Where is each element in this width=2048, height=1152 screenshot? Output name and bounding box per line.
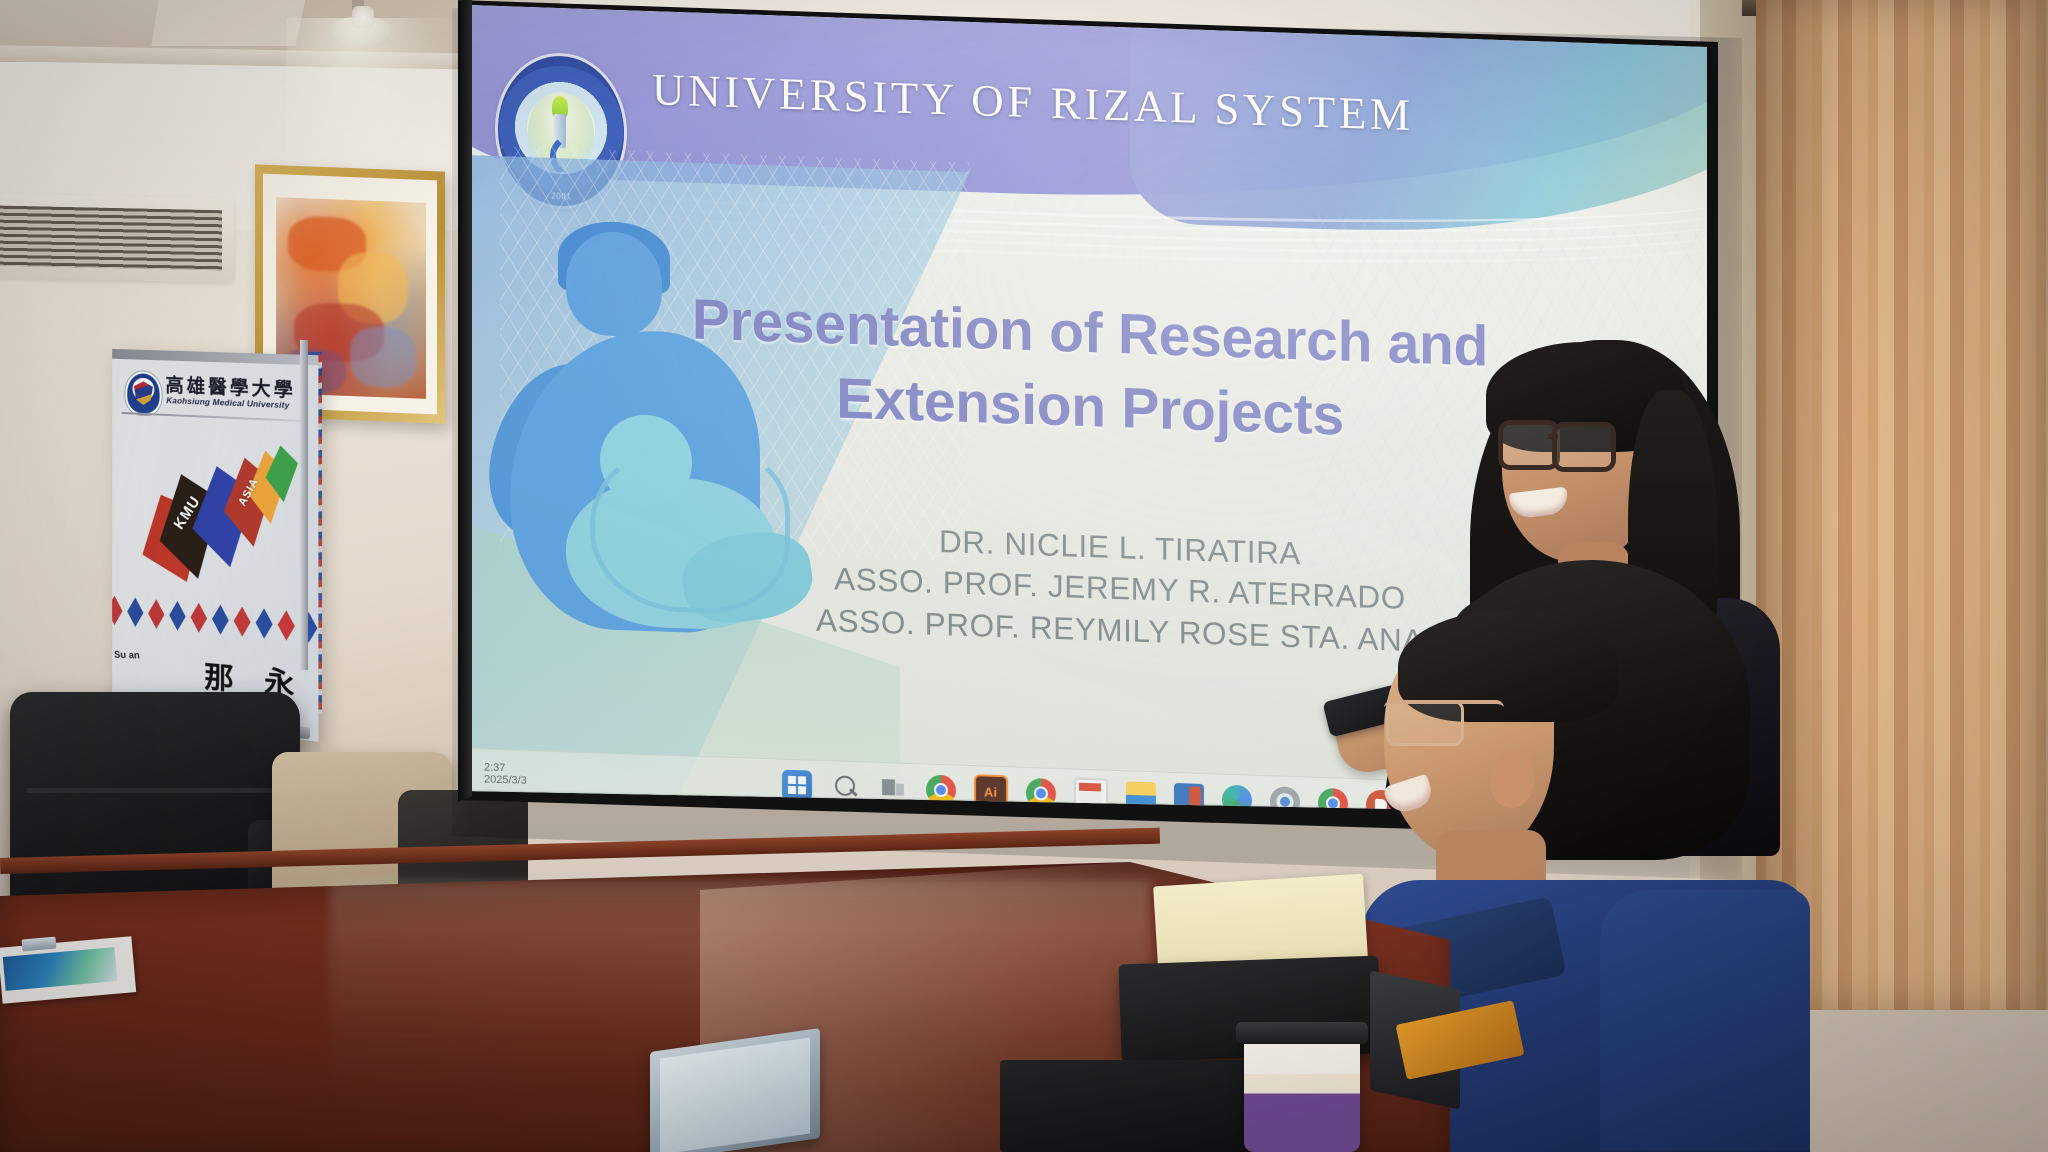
search-icon[interactable] — [830, 771, 860, 802]
banner-divider — [122, 412, 309, 422]
windows-start-icon[interactable] — [782, 770, 812, 801]
chair-seam — [26, 788, 276, 793]
kmu-asia-artwork: KMU ASIA — [133, 440, 296, 601]
attendee-ear — [1490, 750, 1534, 808]
eyeglasses-icon — [1552, 422, 1616, 472]
kmu-banner: 高雄醫學大學 Kaohsiung Medical University KMU … — [112, 349, 318, 742]
banner-diamond-row — [112, 593, 318, 648]
coffee-cup — [1244, 1030, 1360, 1152]
ceiling-panel — [151, 0, 318, 46]
air-conditioning-vent-icon — [0, 206, 222, 271]
banner-pole — [300, 340, 308, 671]
coffee-cup-lid — [1236, 1022, 1368, 1044]
spotlight-bulb — [352, 6, 374, 28]
laptop-screen — [660, 1037, 810, 1152]
attendee-arm — [1600, 890, 1810, 1150]
eyeglasses-bridge — [1548, 434, 1558, 439]
screen-left-edge — [458, 0, 472, 856]
kmu-logo-icon — [125, 371, 161, 416]
taskbar-clock[interactable]: 2:37 2025/3/3 — [484, 761, 527, 786]
eyeglasses-icon — [1498, 420, 1560, 470]
eyeglasses-temple — [1384, 700, 1504, 740]
clock-date: 2025/3/3 — [484, 773, 527, 786]
presentation-room-photo: 高雄醫學大學 Kaohsiung Medical University KMU … — [0, 0, 2048, 1152]
banner-bottom-english: Su an — [114, 650, 181, 664]
